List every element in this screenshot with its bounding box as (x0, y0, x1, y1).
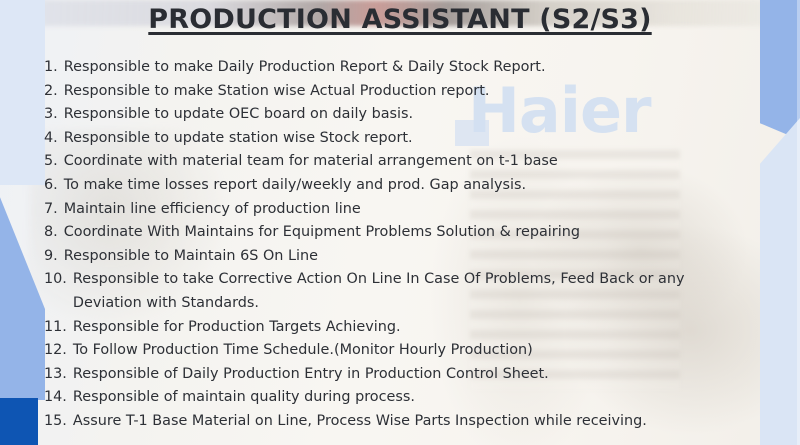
list-item: 12.To Follow Production Time Schedule.(M… (44, 339, 745, 363)
list-item-text: Responsible to make Station wise Actual … (64, 80, 490, 104)
list-item-text: Coordinate with material team for materi… (64, 150, 558, 174)
list-item-number: 8. (44, 221, 58, 245)
list-item-text: Responsible to update OEC board on daily… (64, 103, 413, 127)
list-item-number: 7. (44, 198, 58, 222)
list-item: 10.Responsible to take Corrective Action… (44, 268, 745, 315)
list-item-number: 1. (44, 56, 58, 80)
list-item: 14.Responsible of maintain quality durin… (44, 386, 745, 410)
list-item-text: Responsible to update station wise Stock… (64, 127, 413, 151)
list-item-text: Responsible to make Daily Production Rep… (64, 56, 546, 80)
list-item-number: 13. (44, 363, 67, 387)
list-item-number: 5. (44, 150, 58, 174)
list-item-number: 6. (44, 174, 58, 198)
list-item-number: 15. (44, 410, 67, 434)
list-item: 11.Responsible for Production Targets Ac… (44, 316, 745, 340)
page-title: PRODUCTION ASSISTANT (S2/S3) (0, 4, 800, 35)
list-item-number: 4. (44, 127, 58, 151)
list-item-text: Responsible of Daily Production Entry in… (73, 363, 549, 387)
list-item-text: Responsible for Production Targets Achie… (73, 316, 401, 340)
list-item-number: 11. (44, 316, 67, 340)
list-item-number: 3. (44, 103, 58, 127)
list-item: 8.Coordinate With Maintains for Equipmen… (44, 221, 745, 245)
list-item: 3.Responsible to update OEC board on dai… (44, 103, 745, 127)
list-item: 7.Maintain line efficiency of production… (44, 198, 745, 222)
list-item-number: 9. (44, 245, 58, 269)
list-item-text: To Follow Production Time Schedule.(Moni… (73, 339, 533, 363)
list-item: 15.Assure T-1 Base Material on Line, Pro… (44, 410, 745, 434)
list-item: 1.Responsible to make Daily Production R… (44, 56, 745, 80)
list-item-text: Maintain line efficiency of production l… (64, 198, 361, 222)
list-item-text: Responsible to take Corrective Action On… (73, 268, 745, 315)
list-item-text: Responsible of maintain quality during p… (73, 386, 415, 410)
responsibilities-list: 1.Responsible to make Daily Production R… (44, 56, 745, 434)
slide-content: PRODUCTION ASSISTANT (S2/S3) 1.Responsib… (0, 0, 800, 445)
list-item: 13.Responsible of Daily Production Entry… (44, 363, 745, 387)
list-item-text: Assure T-1 Base Material on Line, Proces… (73, 410, 647, 434)
list-item: 5.Coordinate with material team for mate… (44, 150, 745, 174)
list-item-number: 12. (44, 339, 67, 363)
slide-canvas: Haier PRODUCTION ASSISTANT (S2/S3) 1.Res… (0, 0, 800, 445)
list-item-text: Coordinate With Maintains for Equipment … (64, 221, 580, 245)
list-item-number: 2. (44, 80, 58, 104)
list-item: 2.Responsible to make Station wise Actua… (44, 80, 745, 104)
list-item-text: To make time losses report daily/weekly … (64, 174, 526, 198)
list-item: 9.Responsible to Maintain 6S On Line (44, 245, 745, 269)
list-item-number: 14. (44, 386, 67, 410)
list-item: 6.To make time losses report daily/weekl… (44, 174, 745, 198)
list-item-number: 10. (44, 268, 67, 292)
list-item-text: Responsible to Maintain 6S On Line (64, 245, 318, 269)
list-item: 4.Responsible to update station wise Sto… (44, 127, 745, 151)
